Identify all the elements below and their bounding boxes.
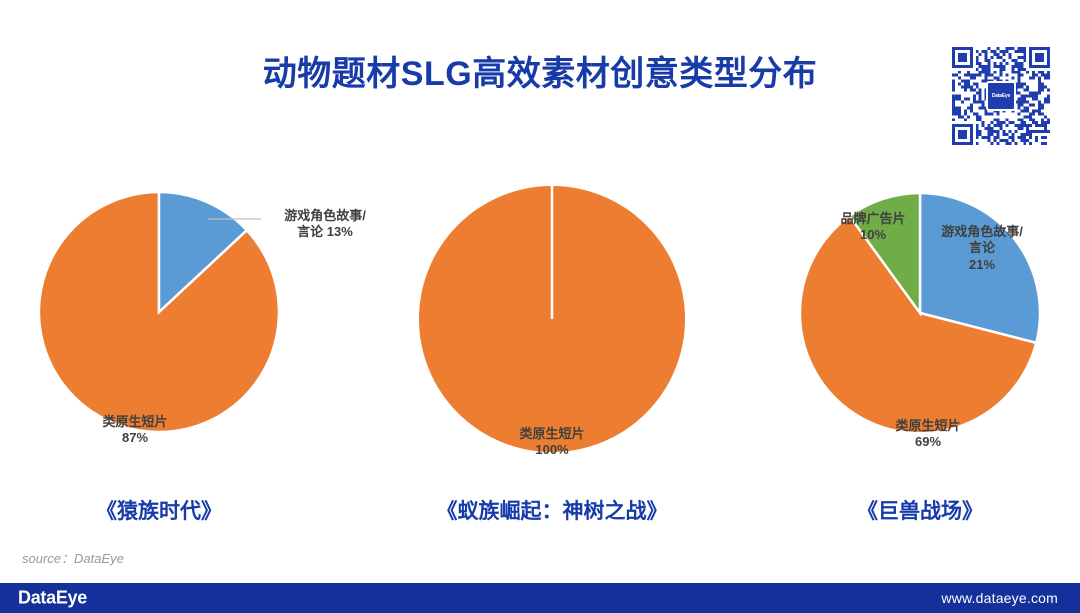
footer-url[interactable]: www.dataeye.com	[941, 590, 1058, 606]
chart-caption-2: 《蚁族崛起：神树之战》	[419, 495, 685, 525]
pie-1-orange-label-pct: 87%	[55, 430, 215, 446]
pie-chart-3-svg	[800, 193, 1040, 433]
chart-caption-3: 《巨兽战场》	[800, 495, 1040, 525]
pie-chart-2: 类原生短片 100%	[419, 186, 685, 452]
qr-code[interactable]: DataEye	[952, 47, 1050, 145]
pie-1-blue-label-line1: 游戏角色故事/	[284, 208, 366, 223]
footer-bar: DataEye www.dataeye.com	[0, 583, 1080, 613]
pie-chart-1-svg	[39, 192, 279, 432]
charts-container: 类原生短片 87% 游戏角色故事/ 言论 13% 类原生短片 100%	[0, 155, 1080, 485]
pie-1-blue-label-pct: 13%	[327, 224, 353, 239]
qr-center-logo: DataEye	[986, 81, 1016, 111]
pie-slices-1	[39, 192, 279, 432]
footer-logo: DataEye	[18, 588, 87, 609]
pie-chart-1: 类原生短片 87% 游戏角色故事/ 言论 13%	[39, 192, 279, 432]
pie-1-blue-callout: 游戏角色故事/ 言论 13%	[265, 208, 385, 241]
pie-chart-3: 类原生短片 69% 游戏角色故事/ 言论 21% 品牌广告片 10%	[800, 193, 1040, 433]
pie-chart-2-svg	[419, 186, 685, 452]
chart-caption-1: 《猿族时代》	[39, 495, 279, 525]
page-title: 动物题材SLG高效素材创意类型分布	[0, 46, 1080, 95]
pie-1-blue-label-line2: 言论	[297, 224, 323, 239]
source-note: source：DataEye	[22, 548, 124, 567]
pie-slices-3	[800, 193, 1040, 433]
pie-3-orange-label-pct: 69%	[858, 434, 998, 450]
pie-slices-2	[419, 186, 685, 452]
